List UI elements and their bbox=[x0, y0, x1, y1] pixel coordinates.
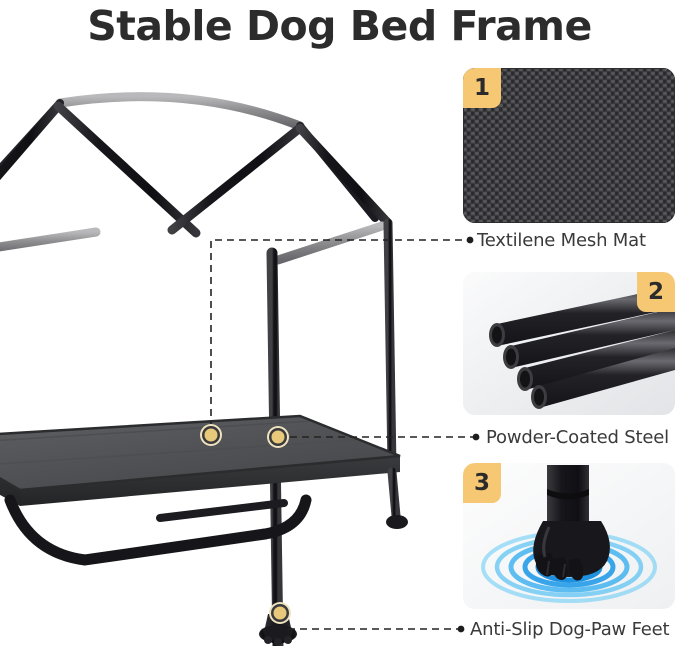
feature-panel-powder-coated-steel[interactable]: 2 bbox=[463, 272, 675, 415]
feature-badge-1: 1 bbox=[463, 68, 501, 108]
bed-mat-platform bbox=[0, 416, 400, 506]
infographic-stage: Stable Dog Bed Frame bbox=[0, 0, 679, 646]
product-illustration bbox=[0, 48, 455, 646]
canopy-frame bbox=[0, 97, 392, 646]
dog-paw-foot bbox=[259, 614, 297, 646]
under-frame-support bbox=[10, 500, 306, 560]
feature-panel-textilene-mesh-mat[interactable]: 1 bbox=[463, 68, 675, 223]
feature-badge-3: 3 bbox=[463, 463, 501, 503]
page-title: Stable Dog Bed Frame bbox=[0, 2, 679, 50]
feature-label-textilene-mesh-mat: Textilene Mesh Mat bbox=[477, 230, 646, 251]
feature-label-powder-coated-steel: Powder-Coated Steel bbox=[486, 427, 669, 448]
feature-panel-anti-slip-dog-paw-feet[interactable]: 3 bbox=[463, 463, 675, 609]
feature-label-anti-slip-dog-paw-feet: Anti-Slip Dog-Paw Feet bbox=[470, 619, 669, 640]
feature-badge-2: 2 bbox=[637, 272, 675, 312]
